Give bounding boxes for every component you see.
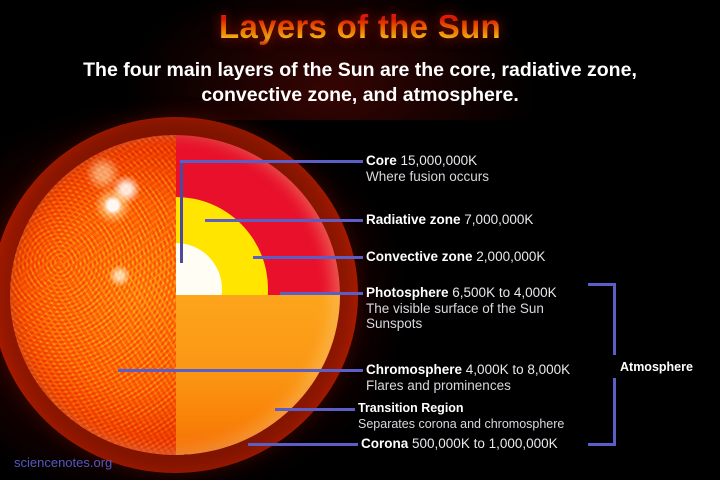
atmosphere-bracket-bottom <box>588 443 616 446</box>
label-photosphere-value: 6,500K to 4,000K <box>452 285 556 300</box>
atmosphere-bracket-upper <box>613 283 616 355</box>
label-convective-zone-name: Convective zone <box>366 249 473 264</box>
leader-line-corona <box>248 443 358 446</box>
leader-line-convective-zone <box>253 256 363 259</box>
leader-line-core <box>180 160 363 163</box>
label-core: Core 15,000,000K Where fusion occurs <box>366 153 489 184</box>
page-subtitle: The four main layers of the Sun are the … <box>40 58 680 108</box>
label-chromosphere-desc: Flares and prominences <box>366 378 570 394</box>
label-transition-region-desc: Separates corona and chromosphere <box>358 417 564 433</box>
label-core-value: 15,000,000K <box>401 153 478 168</box>
page-title: Layers of the Sun <box>0 8 720 46</box>
label-corona-name: Corona <box>361 436 408 451</box>
leader-line-chromosphere <box>118 369 363 372</box>
label-radiative-zone-value: 7,000,000K <box>464 212 533 227</box>
label-photosphere-name: Photosphere <box>366 285 449 300</box>
label-convective-zone: Convective zone 2,000,000K <box>366 249 545 265</box>
label-chromosphere: Chromosphere 4,000K to 8,000K Flares and… <box>366 362 570 393</box>
label-photosphere-desc2: Sunspots <box>366 316 557 332</box>
label-core-desc: Where fusion occurs <box>366 169 489 185</box>
label-transition-region: Transition Region Separates corona and c… <box>358 401 564 432</box>
leader-line-photosphere <box>280 292 363 295</box>
label-transition-region-name: Transition Region <box>358 401 464 415</box>
atmosphere-bracket-label: Atmosphere <box>620 360 693 374</box>
sun-diagram <box>10 135 340 455</box>
label-radiative-zone: Radiative zone 7,000,000K <box>366 212 533 228</box>
leader-line-transition-region <box>275 408 355 411</box>
label-corona-value: 500,000K to 1,000,000K <box>412 436 558 451</box>
label-chromosphere-name: Chromosphere <box>366 362 462 377</box>
watermark: sciencenotes.org <box>14 455 112 470</box>
atmosphere-bracket-lower <box>613 378 616 446</box>
label-photosphere: Photosphere 6,500K to 4,000K The visible… <box>366 285 557 332</box>
sun-rim-shading <box>10 135 340 455</box>
atmosphere-bracket-top <box>588 283 616 286</box>
leader-line-radiative-zone <box>205 219 363 222</box>
label-core-name: Core <box>366 153 397 168</box>
label-corona: Corona 500,000K to 1,000,000K <box>361 436 558 452</box>
leader-line-core-vertical <box>180 160 183 263</box>
label-chromosphere-value: 4,000K to 8,000K <box>466 362 570 377</box>
label-convective-zone-value: 2,000,000K <box>476 249 545 264</box>
label-photosphere-desc: The visible surface of the Sun <box>366 301 557 317</box>
sun-sphere <box>10 135 340 455</box>
infographic-root: Layers of the Sun The four main layers o… <box>0 0 720 480</box>
label-radiative-zone-name: Radiative zone <box>366 212 461 227</box>
